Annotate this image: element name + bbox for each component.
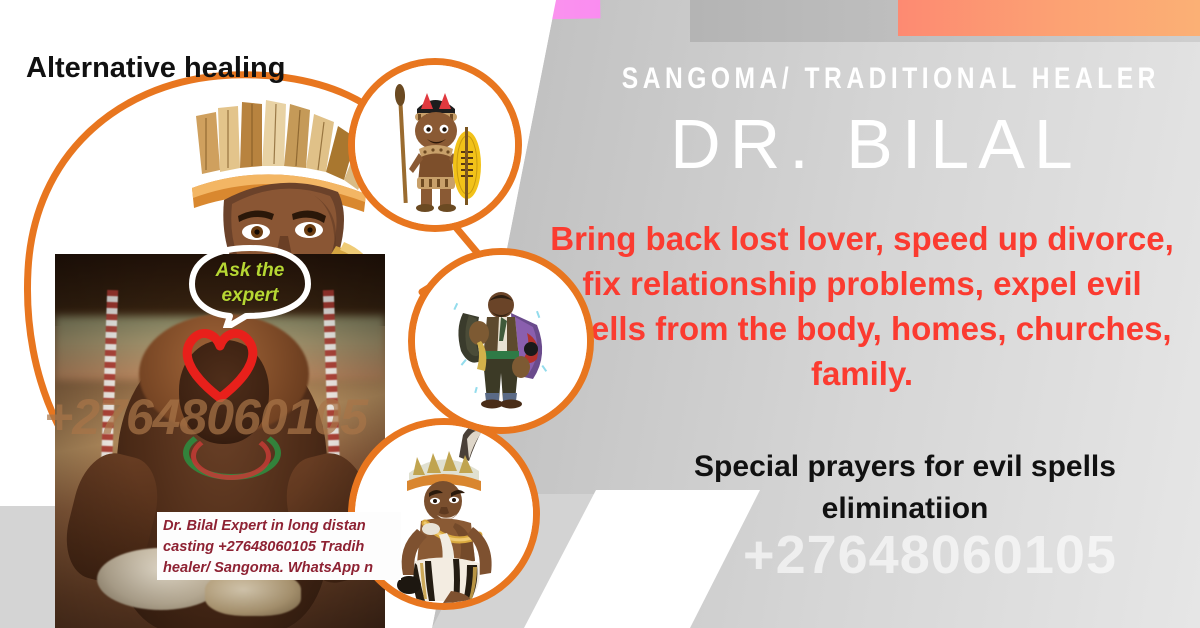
page-title: Alternative healing xyxy=(26,52,285,85)
services-text: Bring back lost lover, speed up divorce,… xyxy=(532,216,1192,396)
circle-sangoma-man xyxy=(408,248,594,434)
photo-caption: Dr. Bilal Expert in long distan casting … xyxy=(157,512,401,580)
special-prayers-text: Special prayers for evil spells eliminat… xyxy=(620,446,1190,530)
poster-canvas: Alternative healing xyxy=(0,0,1200,628)
ghost-phone-number: +27648060105 xyxy=(660,524,1200,586)
photo-caption-line-1: Dr. Bilal Expert in long distan xyxy=(163,516,395,537)
circle-zulu-warrior xyxy=(348,58,522,232)
photo-watermark-phone: +27648060105 xyxy=(44,388,367,446)
healer-name: DR. BILAL xyxy=(566,104,1186,184)
top-salmon-bar xyxy=(898,0,1200,36)
photo-caption-line-2: casting +27648060105 Tradih xyxy=(163,537,395,558)
kicker-text: SANGOMA/ TRADITIONAL HEALER xyxy=(622,62,1130,96)
photo-caption-line-3: healer/ Sangoma. WhatsApp n xyxy=(163,558,395,579)
speech-bubble-text: Ask the expert xyxy=(196,258,304,308)
